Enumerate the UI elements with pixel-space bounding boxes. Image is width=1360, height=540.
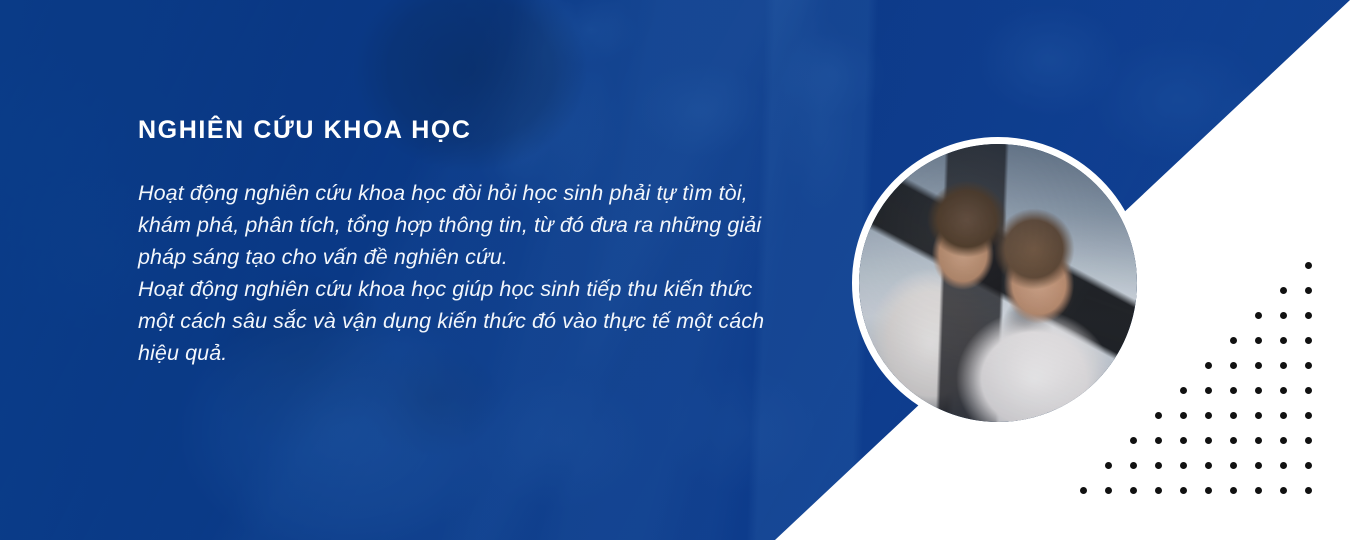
- pattern-dot: [1180, 462, 1187, 469]
- pattern-dot: [1280, 387, 1287, 394]
- pattern-dot: [1155, 437, 1162, 444]
- pattern-dot: [1155, 412, 1162, 419]
- pattern-dot: [1255, 312, 1262, 319]
- pattern-dot: [1180, 487, 1187, 494]
- pattern-dot: [1205, 437, 1212, 444]
- pattern-dot: [1305, 262, 1312, 269]
- pattern-dot: [1180, 437, 1187, 444]
- banner-text-block: NGHIÊN CỨU KHOA HỌC Hoạt động nghiên cứu…: [138, 118, 788, 369]
- pattern-dot: [1255, 362, 1262, 369]
- pattern-dot: [1230, 387, 1237, 394]
- pattern-dot: [1230, 412, 1237, 419]
- pattern-dot: [1255, 462, 1262, 469]
- pattern-dot: [1280, 462, 1287, 469]
- pattern-dot: [1305, 287, 1312, 294]
- paragraph-1: Hoạt động nghiên cứu khoa học đòi hỏi họ…: [138, 177, 788, 273]
- pattern-dot: [1205, 387, 1212, 394]
- pattern-dot: [1130, 462, 1137, 469]
- pattern-dot: [1305, 487, 1312, 494]
- pattern-dot: [1105, 462, 1112, 469]
- pattern-dot: [1255, 387, 1262, 394]
- paragraph-2: Hoạt động nghiên cứu khoa học giúp học s…: [138, 273, 788, 369]
- pattern-dot: [1305, 462, 1312, 469]
- pattern-dot: [1155, 462, 1162, 469]
- pattern-dot: [1305, 412, 1312, 419]
- pattern-dot: [1205, 462, 1212, 469]
- pattern-dot: [1230, 462, 1237, 469]
- pattern-dot: [1205, 362, 1212, 369]
- pattern-dot: [1255, 437, 1262, 444]
- pattern-dot: [1305, 312, 1312, 319]
- pattern-dot: [1305, 337, 1312, 344]
- page-title: NGHIÊN CỨU KHOA HỌC: [138, 118, 788, 143]
- pattern-dot: [1155, 487, 1162, 494]
- pattern-dot: [1230, 437, 1237, 444]
- pattern-dot: [1130, 487, 1137, 494]
- pattern-dot: [1255, 487, 1262, 494]
- pattern-dot: [1280, 487, 1287, 494]
- pattern-dot: [1255, 337, 1262, 344]
- pattern-dot: [1255, 412, 1262, 419]
- pattern-dot: [1080, 487, 1087, 494]
- pattern-dot: [1280, 437, 1287, 444]
- pattern-dot: [1230, 337, 1237, 344]
- pattern-dot: [1130, 437, 1137, 444]
- research-banner: NGHIÊN CỨU KHOA HỌC Hoạt động nghiên cứu…: [0, 0, 1360, 540]
- pattern-dot: [1105, 487, 1112, 494]
- pattern-dot: [1280, 362, 1287, 369]
- pattern-dot: [1280, 287, 1287, 294]
- pattern-dot: [1280, 312, 1287, 319]
- pattern-dot: [1205, 487, 1212, 494]
- pattern-dot: [1230, 362, 1237, 369]
- students-photo-shading: [859, 144, 1137, 422]
- pattern-dot: [1180, 412, 1187, 419]
- pattern-dot: [1280, 337, 1287, 344]
- pattern-dot: [1205, 412, 1212, 419]
- pattern-dot: [1305, 437, 1312, 444]
- students-with-tablet-photo: [852, 137, 1144, 429]
- pattern-dot: [1305, 362, 1312, 369]
- pattern-dot: [1230, 487, 1237, 494]
- pattern-dot: [1305, 387, 1312, 394]
- pattern-dot: [1280, 412, 1287, 419]
- pattern-dot: [1180, 387, 1187, 394]
